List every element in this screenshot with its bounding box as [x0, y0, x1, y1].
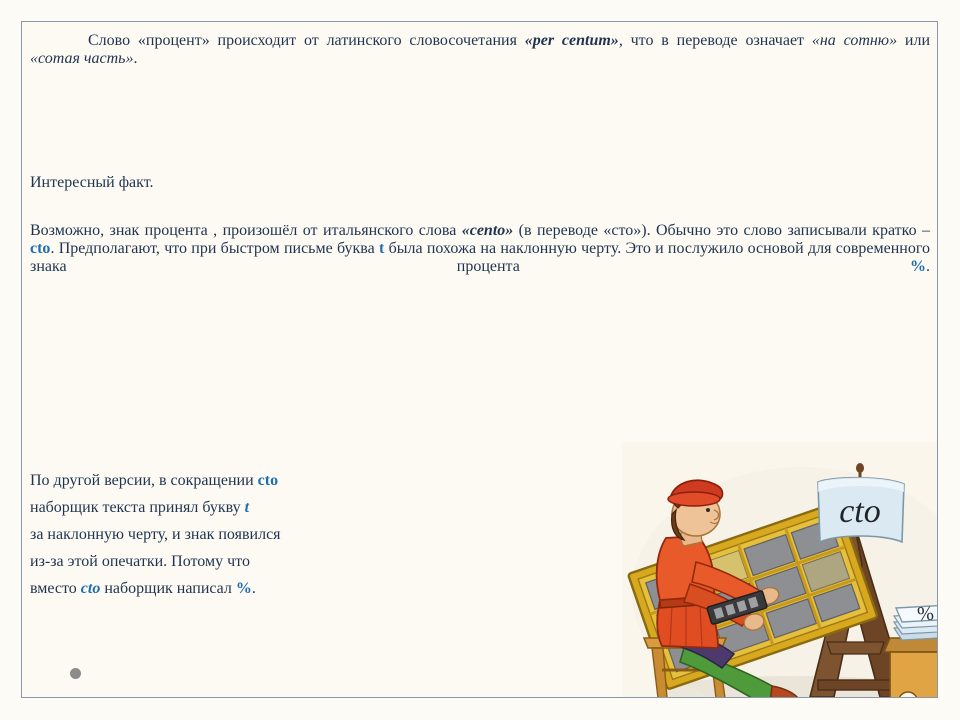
paragraph-typesetter-version: По другой версии, в сокращении cto набор… [30, 472, 630, 607]
p4-line1-cto: cto [258, 472, 278, 489]
p1-translation-2: «сотая часть» [30, 50, 133, 67]
p1-segment-3: , что в переводе означает [619, 32, 812, 49]
slide-root: Слово «процент» происходит от латинского… [0, 0, 960, 720]
medieval-typesetter-illustration: cto % [622, 442, 938, 698]
paragraph-2-text: Интересный факт. [30, 174, 930, 192]
p3-segment-5: . Предполагают, что при быстром письме б… [50, 240, 379, 257]
p3-percent-sign: % [910, 258, 926, 275]
paragraph-3-text: Возможно, знак процента , произошёл от и… [30, 222, 930, 294]
p4-line5-c: наборщик написал [100, 580, 236, 597]
p4-line5-percent: % [236, 580, 252, 597]
p1-segment-1: Слово «процент» происходит от латинского… [88, 32, 525, 49]
paragraph-origin: Слово «процент» происходит от латинского… [30, 32, 930, 73]
bullet-dot-marker [70, 668, 81, 679]
paragraph-interesting-fact: Интересный факт. [30, 174, 930, 195]
p4-line-2: наборщик текста принял букву t [30, 499, 630, 517]
p1-segment-7: . [133, 50, 137, 67]
p1-translation-1: «на сотню» [812, 32, 897, 49]
p3-segment-9: . [926, 258, 930, 275]
paper-stack-shape: % [894, 602, 938, 640]
cto-sign-text: cto [839, 493, 881, 530]
p4-line1-a: По другой версии, в сокращении [30, 472, 258, 489]
p1-segment-5: или [897, 32, 930, 49]
paper-stack-percent-symbol: % [916, 602, 934, 625]
p3-abbrev-cto: cto [30, 240, 50, 257]
paragraph-1-text: Слово «процент» происходит от латинского… [30, 32, 930, 68]
p4-line-4: из-за этой опечатки. Потому что [30, 553, 630, 571]
p4-line5-e: . [252, 580, 256, 597]
p4-line-3: за наклонную черту, и знак появился [30, 526, 630, 544]
p4-line2-a: наборщик текста принял букву [30, 499, 245, 516]
p4-line5-cto: cto [81, 580, 101, 597]
p1-latin-phrase: «per centum» [525, 32, 619, 49]
p3-segment-3: (в переводе «сто»). Обычно это слово зап… [513, 222, 930, 239]
p3-italian-word: «cento» [462, 222, 514, 239]
p4-line-1: По другой версии, в сокращении cto [30, 472, 630, 490]
p4-line-5: вместо cto наборщик написал %. [30, 580, 630, 598]
p3-segment-1: Возможно, знак процента , произошёл от и… [30, 222, 462, 239]
paragraph-cento-origin: Возможно, знак процента , произошёл от и… [30, 222, 930, 299]
p4-line2-letter-t: t [245, 499, 249, 516]
p2-text: Интересный факт. [30, 174, 154, 191]
content-frame: Слово «процент» происходит от латинского… [21, 21, 938, 698]
p4-line5-a: вместо [30, 580, 81, 597]
